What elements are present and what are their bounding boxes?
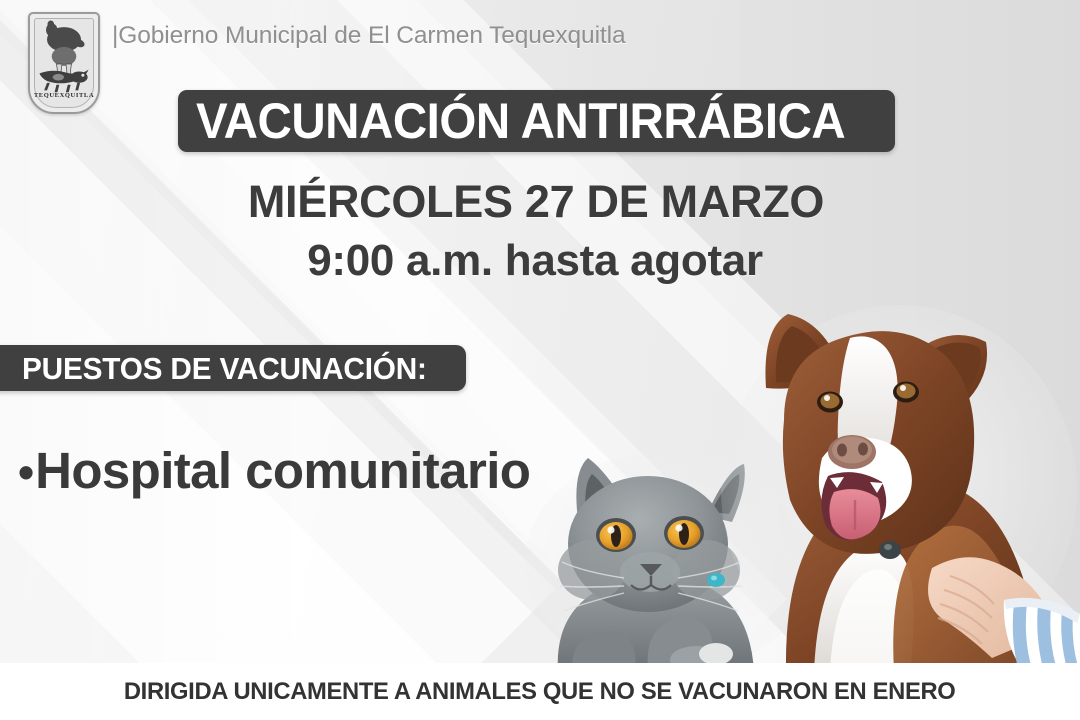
dog-illustration — [718, 300, 1080, 672]
main-title-band: VACUNACIÓN ANTIRRÁBICA — [178, 90, 895, 152]
footer-notice-text: DIRIGIDA UNICAMENTE A ANIMALES QUE NO SE… — [124, 678, 956, 706]
crest-wordmark: TEQUEXQUITLA — [30, 92, 98, 99]
dog-photo — [718, 300, 1080, 672]
section-title-text: PUESTOS DE VACUNACIÓN: — [22, 353, 427, 384]
government-title: |Gobierno Municipal de El Carmen Tequexq… — [112, 22, 625, 50]
poster-canvas: TEQUEXQUITLA |Gobierno Municipal de El C… — [0, 0, 1080, 720]
list-item: • Hospital comunitario — [18, 445, 530, 496]
site-name: Hospital comunitario — [35, 445, 530, 496]
event-time: 9:00 a.m. hasta agotar — [0, 236, 1080, 286]
footer-notice-bar: DIRIGIDA UNICAMENTE A ANIMALES QUE NO SE… — [0, 663, 1080, 720]
bullet-icon: • — [18, 449, 34, 495]
municipal-crest-icon: TEQUEXQUITLA — [28, 12, 100, 114]
main-title-text: VACUNACIÓN ANTIRRÁBICA — [196, 96, 845, 146]
event-date: MIÉRCOLES 27 DE MARZO — [0, 176, 1080, 228]
section-title-band: PUESTOS DE VACUNACIÓN: — [0, 345, 466, 391]
